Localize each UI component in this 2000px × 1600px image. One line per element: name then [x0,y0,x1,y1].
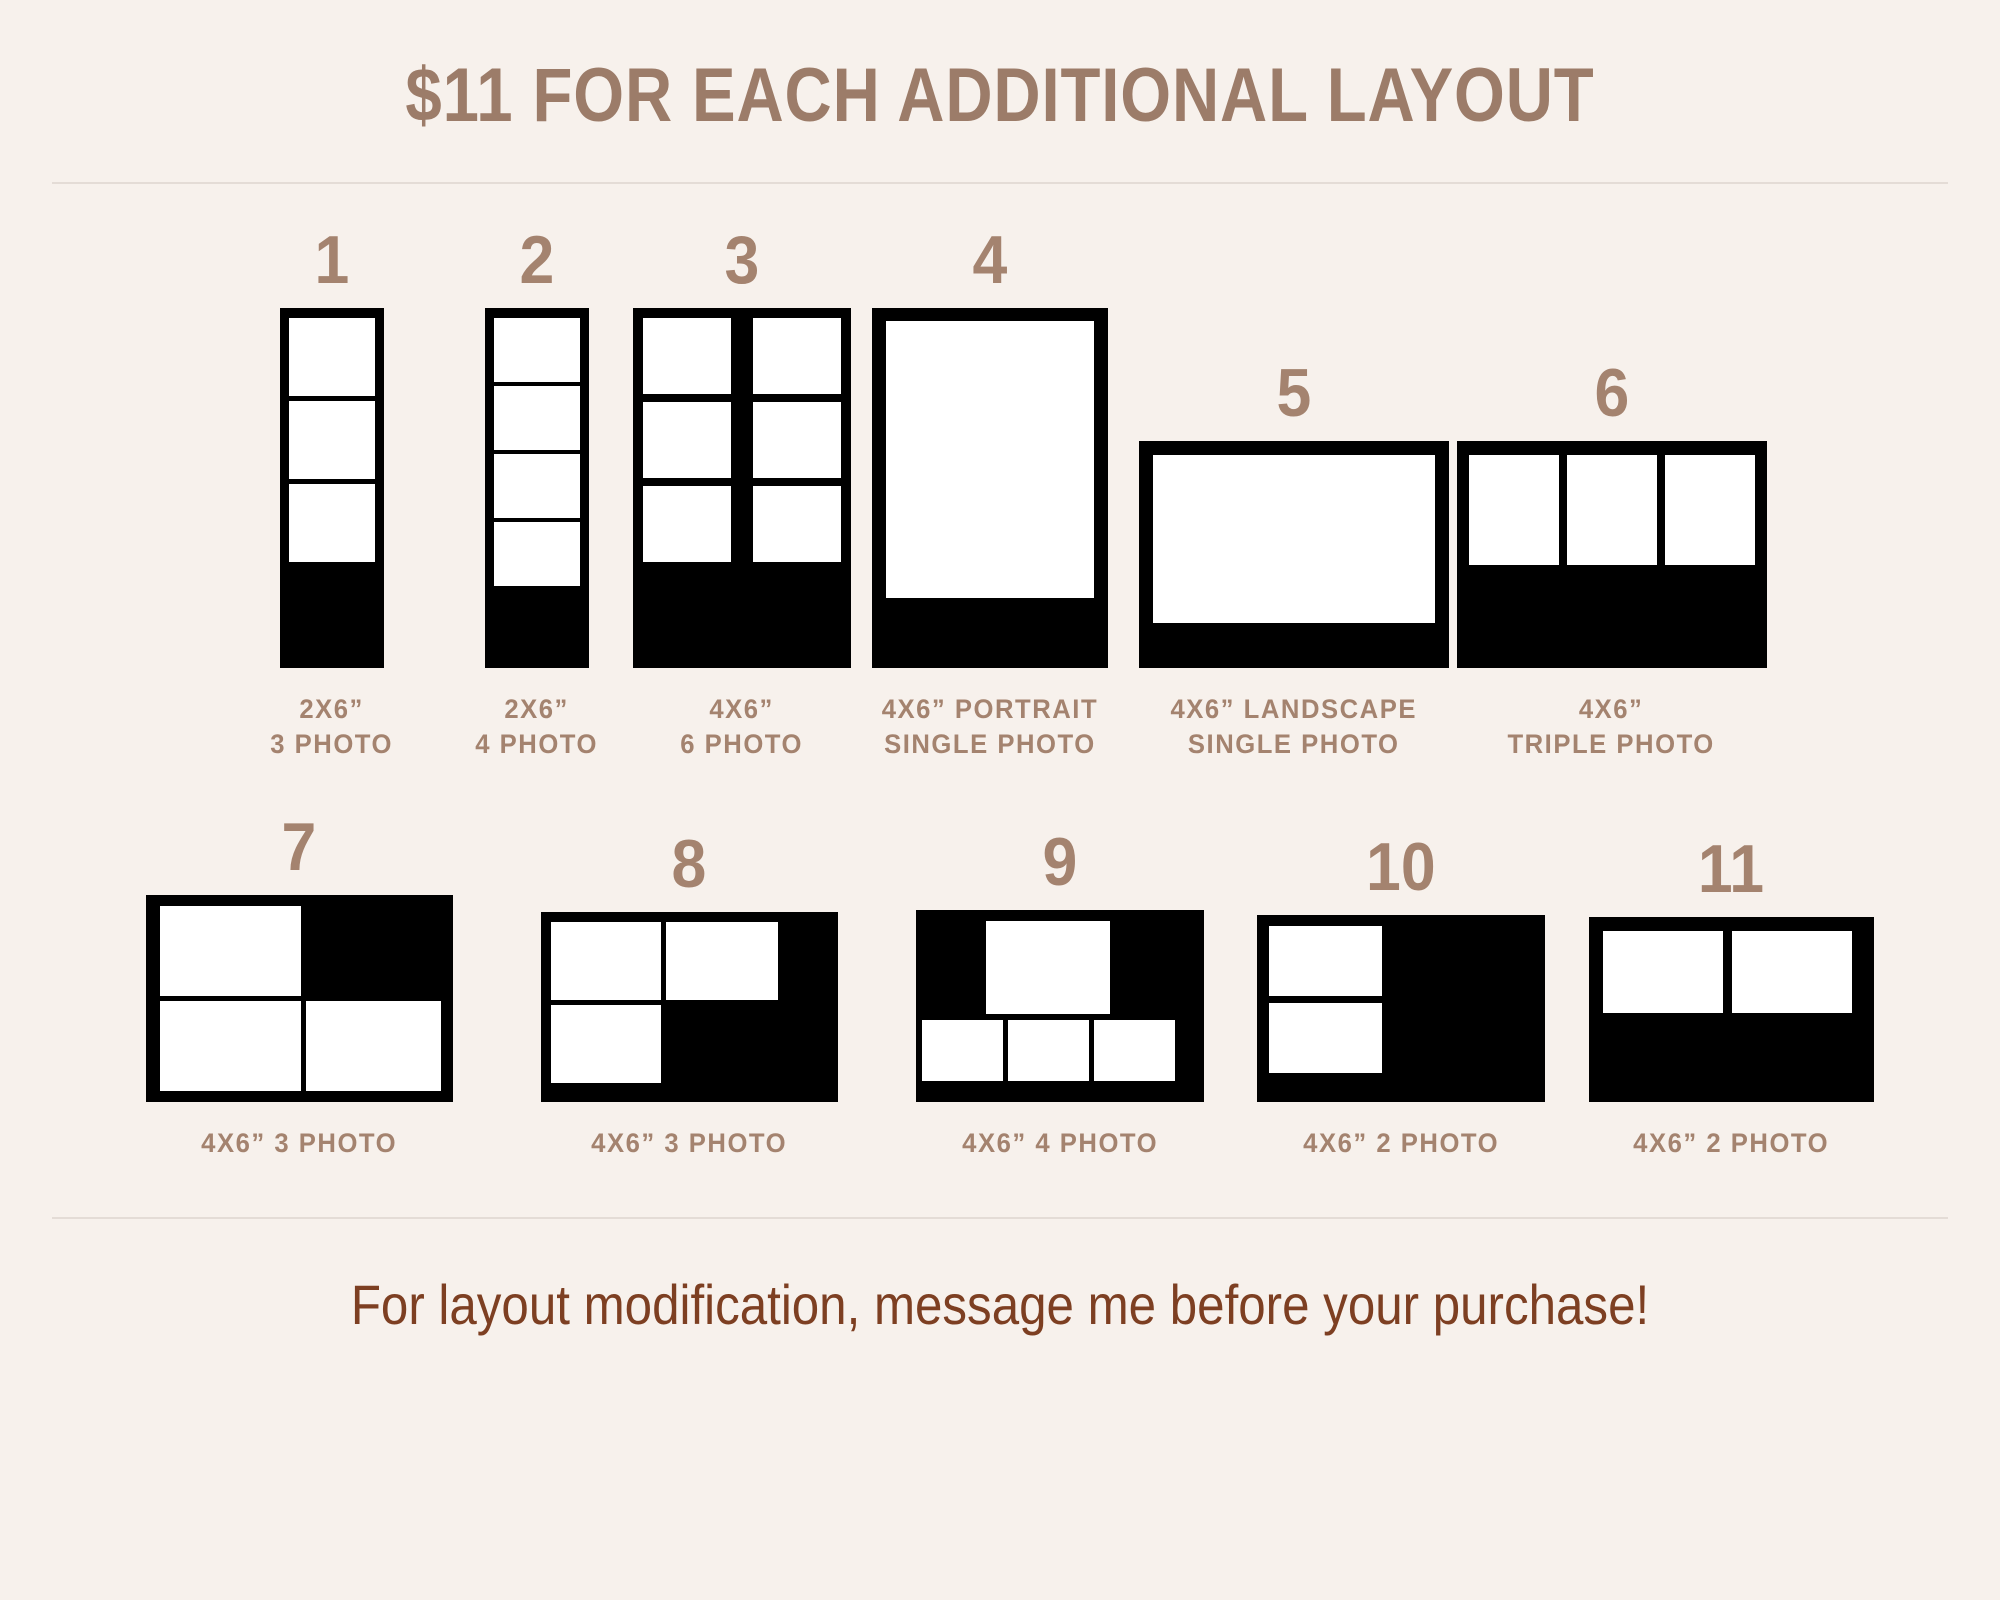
layout-number: 6 [1594,359,1629,427]
photo-slot [160,906,301,996]
photo-frame [1257,915,1545,1102]
photo-slot [1665,455,1755,565]
layout-card-9[interactable]: 9 4X6” 4 PHOTO [884,828,1236,1161]
photo-slot [160,1001,301,1091]
layout-card-1[interactable]: 1 2X6” 3 PHOTO [230,226,435,761]
layout-number: 4 [972,226,1007,294]
layout-label: 4X6” 2 PHOTO [1303,1126,1499,1161]
layout-card-2[interactable]: 2 2X6” 4 PHOTO [435,226,640,761]
layout-thumbnail-1 [280,308,384,668]
layout-thumbnail-10 [1257,915,1545,1102]
photo-slot [1094,1020,1175,1081]
layout-card-11[interactable]: 11 4X6” 2 PHOTO [1566,835,1896,1161]
layout-thumbnail-9 [916,910,1204,1102]
photo-slot [1008,1020,1089,1081]
photo-slot [289,484,375,562]
layout-card-10[interactable]: 10 4X6” 2 PHOTO [1236,833,1566,1161]
photo-slot [289,401,375,479]
photo-slot [986,921,1110,1014]
layout-label: 4X6” 3 PHOTO [201,1126,397,1161]
layout-label: 4X6” TRIPLE PHOTO [1508,692,1715,761]
divider-top [52,182,1948,184]
photo-slot [753,486,841,562]
layout-thumbnail-6 [1457,441,1767,668]
layout-number: 7 [282,813,317,881]
layout-label: 4X6” PORTRAIT SINGLE PHOTO [881,692,1097,761]
layout-card-4[interactable]: 4 4X6” PORTRAIT SINGLE PHOTO [845,226,1135,761]
photo-slot [1567,455,1657,565]
photo-frame [485,308,589,668]
photo-slot [643,402,731,478]
layout-label: 4X6” 3 PHOTO [591,1126,787,1161]
photo-slot [551,922,661,1000]
photo-frame [541,912,838,1102]
layout-thumbnail-4 [872,308,1108,668]
layout-card-7[interactable]: 7 4X6” 3 PHOTO [104,813,494,1161]
photo-slot [886,321,1094,598]
layout-row-2: 7 4X6” 3 PHOTO 8 4X6” 3 PHOTO [0,813,2000,1161]
photo-slot [1153,455,1435,623]
layout-row-1: 1 2X6” 3 PHOTO 2 2X6” 4 P [0,226,2000,761]
photo-slot [666,922,778,1000]
photo-frame [633,308,851,668]
photo-slot [643,486,731,562]
layout-number: 1 [315,226,350,294]
layout-thumbnail-2 [485,308,589,668]
photo-slot [494,454,580,518]
layout-label: 4X6” 2 PHOTO [1633,1126,1829,1161]
photo-slot [494,318,580,382]
photo-frame [916,910,1204,1102]
layout-thumbnail-11 [1589,917,1874,1102]
layout-label: 2X6” 3 PHOTO [271,692,394,761]
photo-frame [1589,917,1874,1102]
layout-thumbnail-5 [1139,441,1449,668]
layout-number: 10 [1366,833,1436,901]
layout-label: 4X6” LANDSCAPE SINGLE PHOTO [1170,692,1416,761]
photo-frame [280,308,384,668]
layout-number: 3 [725,226,760,294]
layout-number: 5 [1276,359,1311,427]
layout-thumbnail-7 [146,895,453,1102]
layout-card-3[interactable]: 3 4X6” 6 PHOTO [640,226,845,761]
photo-frame [1139,441,1449,668]
layout-number: 2 [520,226,555,294]
photo-slot [306,1001,441,1091]
page-title: $11 FOR EACH ADDITIONAL LAYOUT [140,0,1860,134]
photo-slot [1269,1003,1382,1073]
photo-slot [494,522,580,586]
photo-slot [494,386,580,450]
photo-slot [922,1020,1003,1081]
photo-slot [1603,931,1723,1013]
layout-number: 9 [1043,828,1078,896]
layout-label: 4X6” 4 PHOTO [962,1126,1158,1161]
layout-label: 4X6” 6 PHOTO [681,692,804,761]
layout-card-5[interactable]: 5 4X6” LANDSCAPE SINGLE PHOTO [1135,359,1453,761]
photo-slot [1732,931,1852,1013]
photo-slot [551,1005,661,1083]
photo-frame [872,308,1108,668]
layout-label: 2X6” 4 PHOTO [476,692,599,761]
photo-slot [1269,926,1382,996]
photo-slot [753,318,841,394]
layout-thumbnail-3 [633,308,851,668]
photo-frame [146,895,453,1102]
layout-card-8[interactable]: 8 4X6” 3 PHOTO [494,830,884,1161]
layout-card-6[interactable]: 6 4X6” TRIPLE PHOTO [1453,359,1771,761]
layout-price-sheet: $11 FOR EACH ADDITIONAL LAYOUT 1 2X6” 3 … [0,0,2000,1600]
layout-number: 11 [1698,835,1764,903]
photo-slot [753,402,841,478]
photo-slot [289,318,375,396]
layout-thumbnail-8 [541,912,838,1102]
photo-frame [1457,441,1767,668]
divider-bottom [52,1217,1948,1219]
photo-slot [1469,455,1559,565]
layout-number: 8 [672,830,707,898]
photo-slot [643,318,731,394]
footer-message: For layout modification, message me befo… [120,1277,1880,1333]
